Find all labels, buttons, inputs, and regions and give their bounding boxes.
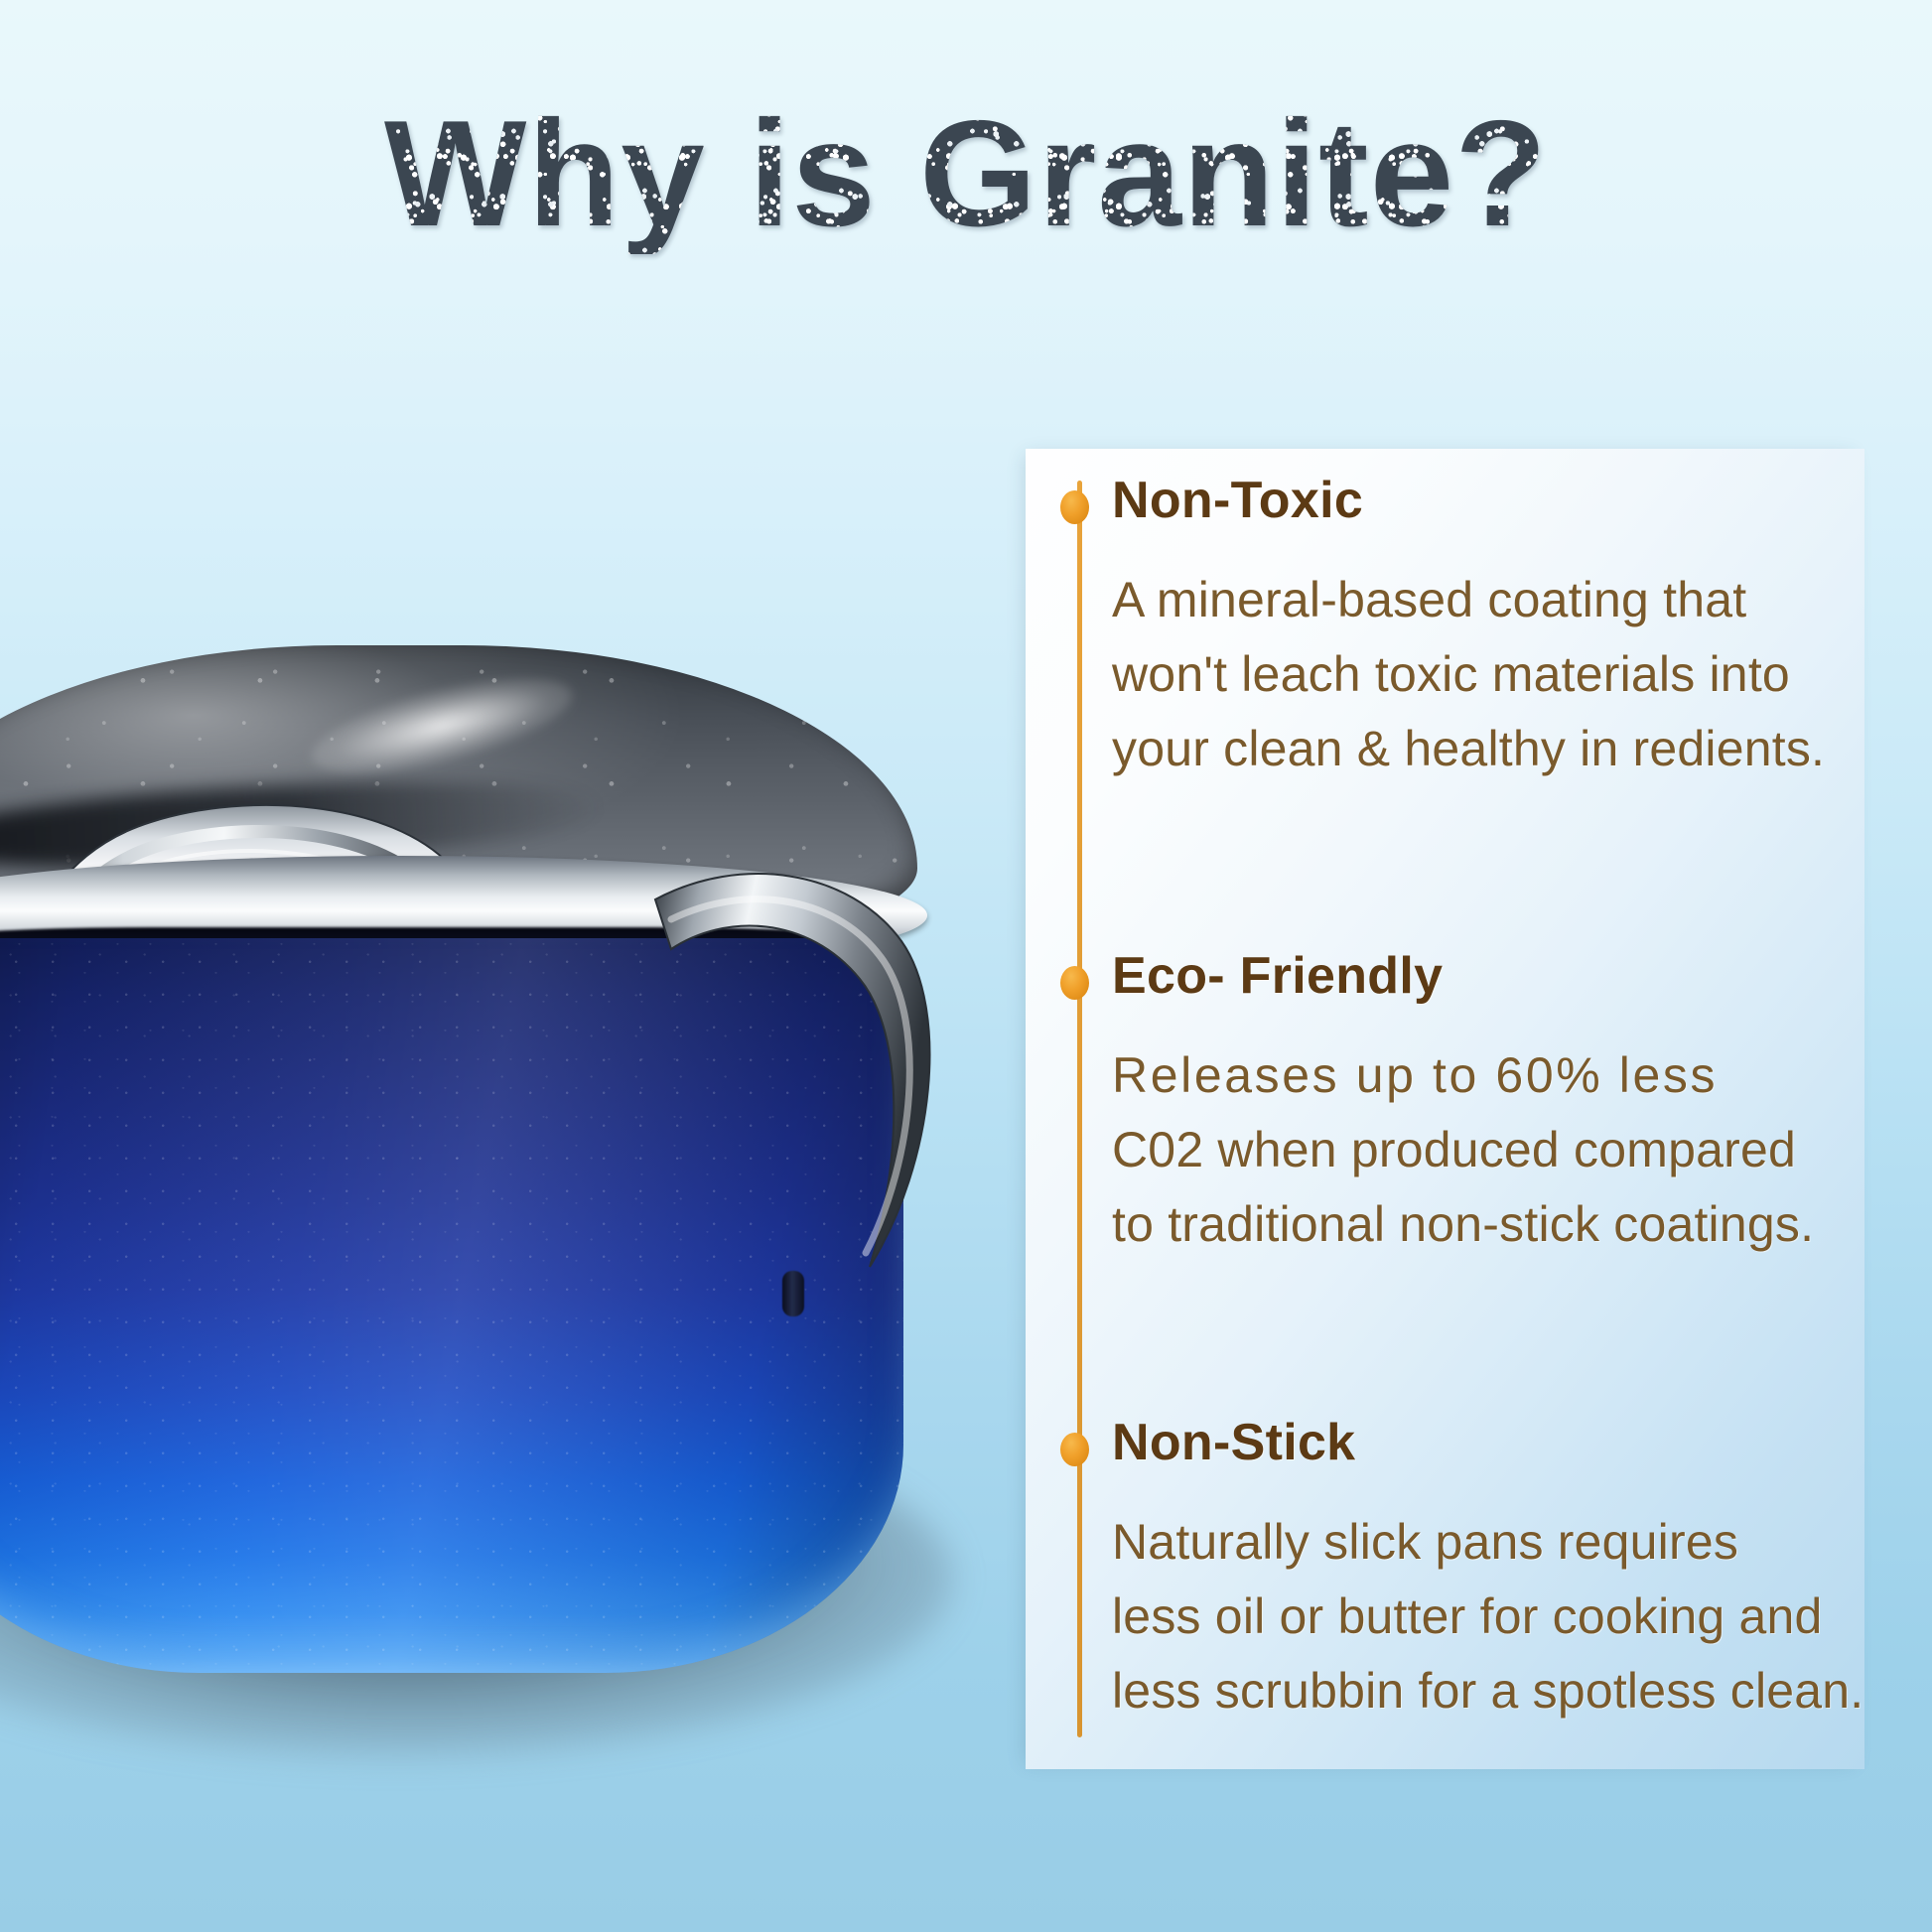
feature-line: your clean & healthy in redients. — [1112, 712, 1866, 786]
feature-title: Non-Stick — [1112, 1415, 1866, 1471]
feature-line: to traditional non-stick coatings. — [1112, 1187, 1866, 1262]
feature-line: won't leach toxic materials into — [1112, 637, 1866, 712]
page-title: Why is Granite? — [0, 95, 1932, 254]
feature-line: C02 when produced compared — [1112, 1113, 1866, 1187]
feature-title: Non-Toxic — [1112, 473, 1866, 529]
feature-line: less scrubbin for a spotless clean. — [1112, 1654, 1866, 1728]
feature-line: Naturally slick pans requires — [1112, 1505, 1866, 1580]
bullet-dot-icon — [1060, 490, 1089, 524]
side-handle-screw — [782, 1271, 804, 1316]
feature-line: Releases up to 60% less — [1112, 1038, 1866, 1113]
side-loop-handle-icon — [645, 864, 973, 1320]
infographic-canvas: Why is Granite? — [0, 0, 1932, 1932]
feature-item-non-stick: Non-Stick Naturally slick pans requires … — [1112, 1415, 1866, 1728]
bullet-dot-icon — [1060, 1433, 1089, 1466]
feature-line: less oil or butter for cooking and — [1112, 1580, 1866, 1654]
bullet-dot-icon — [1060, 966, 1089, 1000]
feature-description: Naturally slick pans requires less oil o… — [1112, 1505, 1866, 1728]
product-image-stock-pot — [0, 397, 1033, 1837]
feature-item-eco-friendly: Eco- Friendly Releases up to 60% less C0… — [1112, 948, 1866, 1262]
feature-description: Releases up to 60% less C02 when produce… — [1112, 1038, 1866, 1262]
feature-line: A mineral-based coating that — [1112, 563, 1866, 637]
feature-description: A mineral-based coating that won't leach… — [1112, 563, 1866, 786]
feature-item-non-toxic: Non-Toxic A mineral-based coating that w… — [1112, 473, 1866, 786]
timeline-rail — [1077, 481, 1082, 1737]
feature-title: Eco- Friendly — [1112, 948, 1866, 1005]
